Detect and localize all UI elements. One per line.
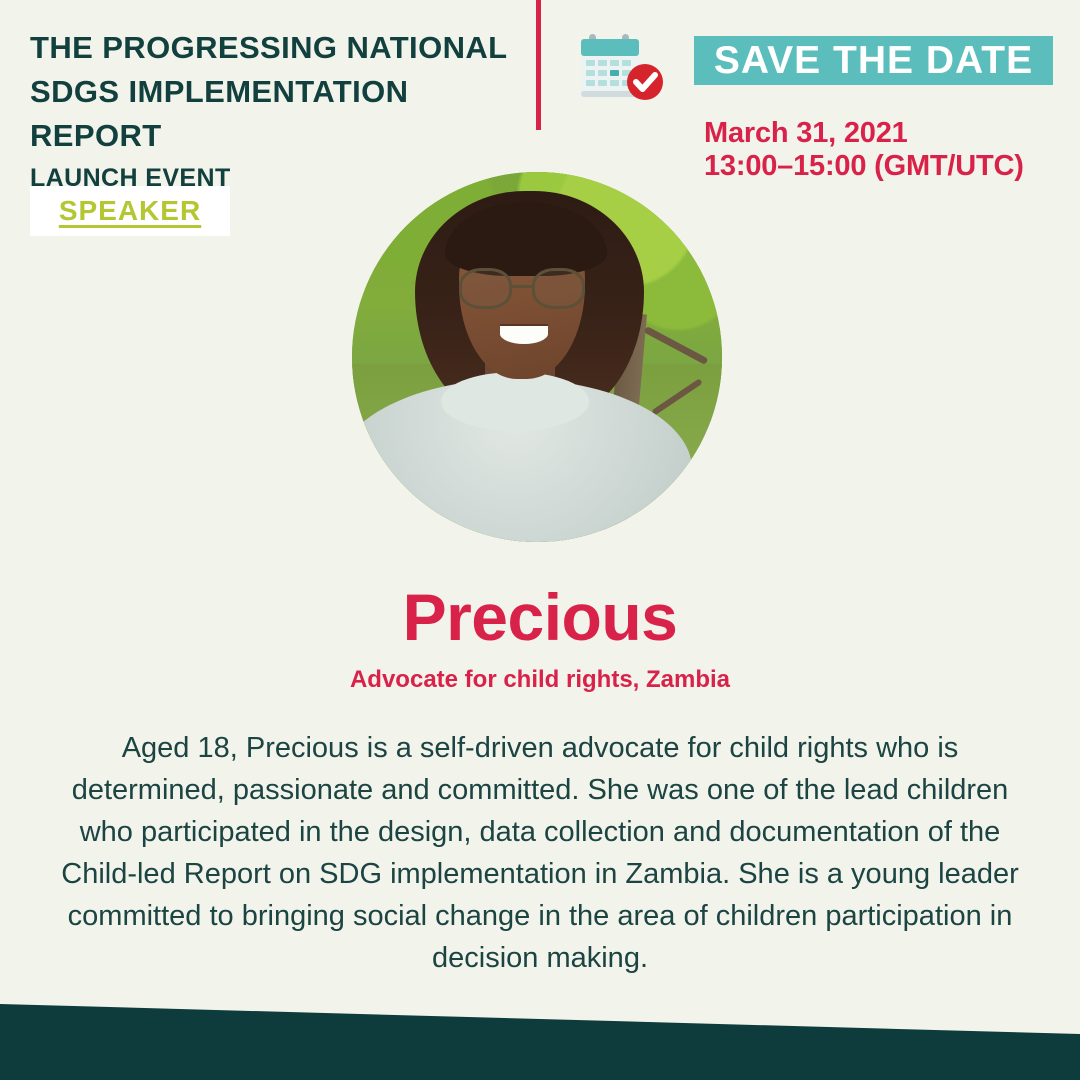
event-title-line-1: THE PROGRESSING NATIONAL [30, 26, 530, 70]
speaker-name: Precious [0, 580, 1080, 654]
event-date: March 31, 2021 [704, 117, 1024, 150]
speaker-tag-label: SPEAKER [59, 195, 201, 227]
event-poster: THE PROGRESSING NATIONAL SDGS IMPLEMENTA… [0, 0, 1080, 1080]
portrait-glasses [459, 268, 585, 309]
speaker-portrait [352, 172, 722, 542]
vertical-divider [536, 0, 541, 130]
portrait-collar [441, 372, 589, 431]
glasses-bridge [512, 285, 532, 288]
speaker-tag: SPEAKER [30, 186, 230, 236]
event-title-line-2: SDGS IMPLEMENTATION REPORT [30, 70, 530, 158]
save-the-date-badge: SAVE THE DATE [694, 36, 1053, 85]
save-the-date-label: SAVE THE DATE [714, 41, 1033, 80]
speaker-bio: Aged 18, Precious is a self-driven advoc… [60, 727, 1020, 979]
bottom-accent-band [0, 960, 1080, 1080]
glasses-right-lens [532, 268, 585, 309]
glasses-left-lens [459, 268, 512, 309]
calendar-check-icon [575, 28, 680, 103]
event-datetime: March 31, 2021 13:00–15:00 (GMT/UTC) [704, 117, 1024, 183]
event-time: 13:00–15:00 (GMT/UTC) [704, 150, 1024, 183]
speaker-role: Advocate for child rights, Zambia [0, 665, 1080, 695]
